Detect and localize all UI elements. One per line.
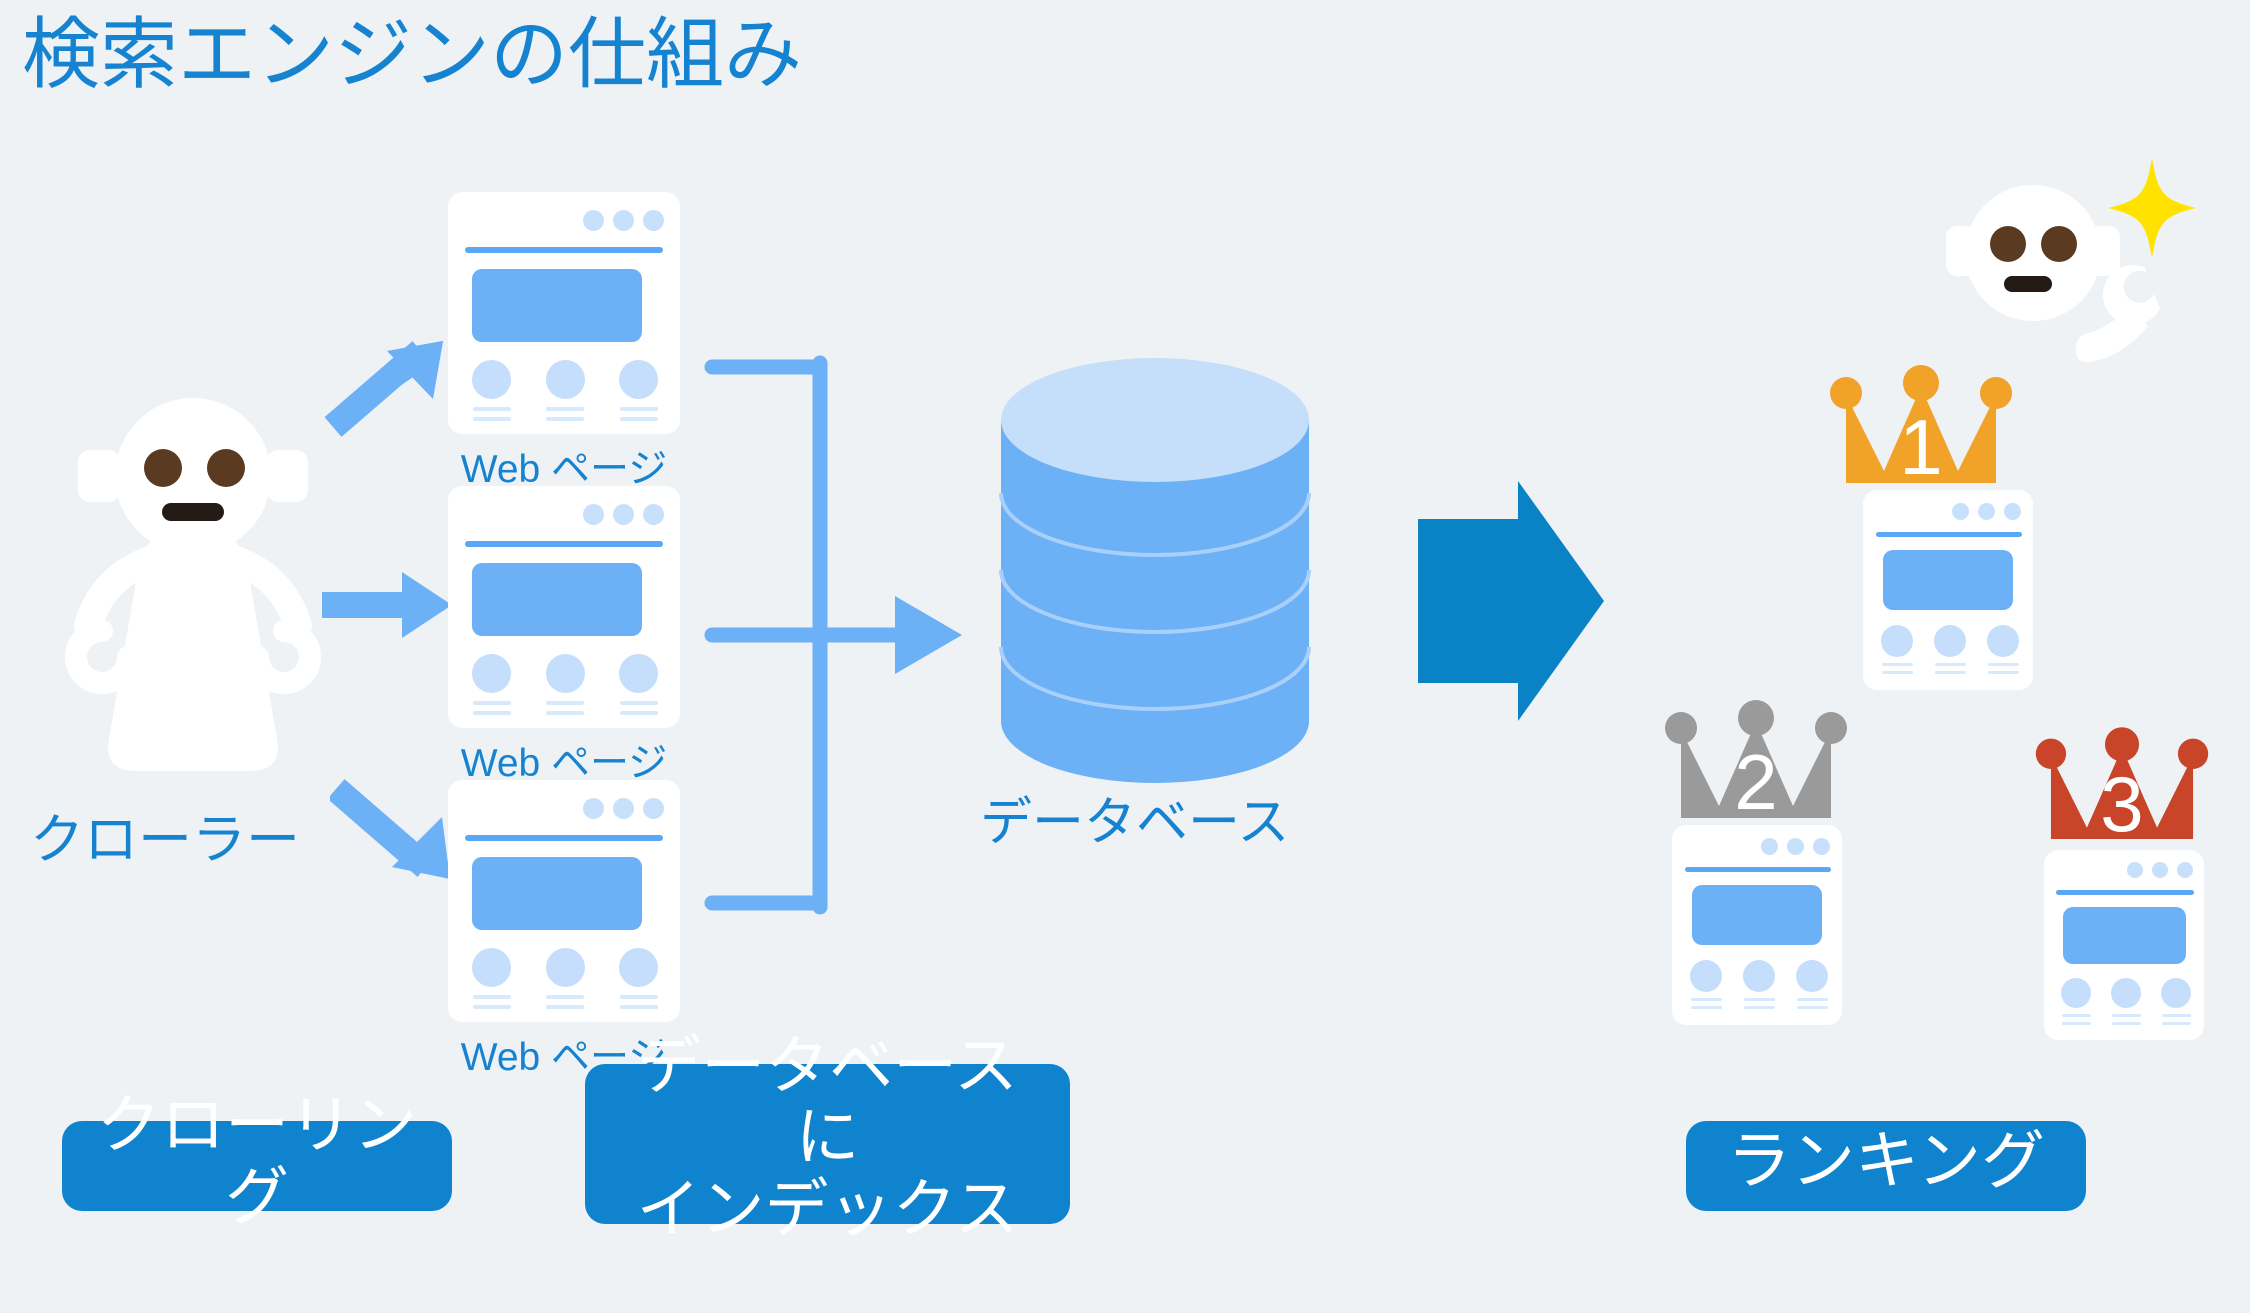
window-dot — [2004, 503, 2021, 520]
card-text-line — [2112, 1014, 2141, 1017]
card-text-line — [620, 701, 658, 705]
card-column — [472, 654, 511, 715]
window-dot — [583, 210, 604, 231]
card-avatar-circle — [1743, 960, 1775, 992]
card-avatar-circle — [1881, 625, 1913, 657]
database-cylinder-icon — [995, 358, 1315, 783]
crawler-label: クローラー — [30, 795, 300, 874]
card-text-line — [473, 701, 511, 705]
bracket-arrow-right-icon — [690, 355, 1000, 915]
card-column — [472, 948, 511, 1009]
card-column — [2061, 978, 2091, 1025]
card-text-line — [1744, 998, 1775, 1001]
card-text-line — [2112, 1022, 2141, 1025]
card-column — [546, 948, 585, 1009]
card-column — [619, 948, 658, 1009]
card-columns — [1690, 960, 1828, 1009]
card-text-line — [546, 701, 584, 705]
crown-silver-icon — [1661, 700, 1851, 824]
window-dot — [643, 798, 664, 819]
card-text-line — [2062, 1022, 2091, 1025]
card-avatar-circle — [619, 948, 658, 987]
card-hero-block — [1692, 885, 1822, 945]
sparkle-icon — [2108, 158, 2196, 258]
card-divider — [2056, 890, 2194, 895]
card-text-line — [546, 711, 584, 715]
window-dots — [583, 798, 664, 819]
window-dots — [1952, 503, 2021, 520]
card-text-line — [1797, 998, 1828, 1001]
card-text-line — [473, 407, 511, 411]
window-dot — [583, 798, 604, 819]
card-avatar-circle — [619, 654, 658, 693]
card-text-line — [1691, 1006, 1722, 1009]
diagram-canvas: 検索エンジンの仕組み クローラー — [0, 0, 2250, 1313]
crown-gold-icon — [1826, 365, 2016, 489]
card-hero-block — [1883, 550, 2013, 610]
card-column — [619, 654, 658, 715]
step-badge-ranking[interactable]: ランキング — [1686, 1121, 2086, 1211]
card-columns — [472, 654, 658, 715]
card-avatar-circle — [546, 360, 585, 399]
card-text-line — [620, 417, 658, 421]
block-arrow-right-icon — [1418, 477, 1608, 727]
web-page-card[interactable] — [448, 486, 680, 728]
database-label: データベース — [980, 780, 1289, 855]
page-title: 検索エンジンの仕組み — [22, 6, 802, 104]
crown-bronze-icon — [2032, 727, 2212, 845]
card-text-line — [2162, 1022, 2191, 1025]
card-divider — [1876, 532, 2022, 537]
card-text-line — [2062, 1014, 2091, 1017]
arrow-up-right-icon — [325, 335, 455, 440]
window-dot — [1761, 838, 1778, 855]
window-dots — [2127, 862, 2193, 878]
ranked-page-card[interactable] — [1672, 825, 1842, 1025]
card-text-line — [1988, 671, 2019, 674]
card-columns — [472, 948, 658, 1009]
card-text-line — [1797, 1006, 1828, 1009]
card-divider — [465, 835, 663, 841]
card-divider — [465, 541, 663, 547]
card-avatar-circle — [546, 948, 585, 987]
step-badge-crawling[interactable]: クローリング — [62, 1121, 452, 1211]
card-column — [1934, 625, 1966, 674]
card-avatar-circle — [2061, 978, 2091, 1008]
window-dots — [583, 504, 664, 525]
card-column — [1796, 960, 1828, 1009]
arrow-right-icon — [322, 570, 454, 640]
card-columns — [472, 360, 658, 421]
robot-crawler-icon — [58, 388, 328, 798]
card-column — [546, 654, 585, 715]
card-column — [619, 360, 658, 421]
card-text-line — [620, 407, 658, 411]
card-text-line — [1691, 998, 1722, 1001]
card-divider — [1685, 867, 1831, 872]
window-dot — [643, 210, 664, 231]
card-avatar-circle — [2161, 978, 2191, 1008]
card-hero-block — [2063, 907, 2186, 964]
card-avatar-circle — [472, 948, 511, 987]
ranked-page-card[interactable] — [2044, 850, 2204, 1040]
card-text-line — [620, 995, 658, 999]
card-text-line — [546, 407, 584, 411]
card-column — [1743, 960, 1775, 1009]
card-avatar-circle — [472, 360, 511, 399]
card-column — [1987, 625, 2019, 674]
card-column — [1690, 960, 1722, 1009]
card-text-line — [473, 1005, 511, 1009]
card-text-line — [546, 1005, 584, 1009]
card-text-line — [473, 417, 511, 421]
window-dot — [1978, 503, 1995, 520]
window-dot — [2177, 862, 2193, 878]
card-text-line — [1882, 671, 1913, 674]
step-badge-indexing[interactable]: データベースに インデックス — [585, 1064, 1070, 1224]
card-text-line — [620, 1005, 658, 1009]
card-text-line — [473, 711, 511, 715]
card-hero-block — [472, 857, 642, 930]
wrench-arm-icon — [2070, 258, 2180, 368]
window-dots — [583, 210, 664, 231]
card-text-line — [473, 995, 511, 999]
card-text-line — [1935, 663, 1966, 666]
card-avatar-circle — [2111, 978, 2141, 1008]
card-avatar-circle — [1987, 625, 2019, 657]
card-column — [2161, 978, 2191, 1025]
card-text-line — [1744, 1006, 1775, 1009]
card-text-line — [2162, 1014, 2191, 1017]
card-avatar-circle — [1934, 625, 1966, 657]
card-column — [2111, 978, 2141, 1025]
window-dot — [1787, 838, 1804, 855]
window-dot — [583, 504, 604, 525]
card-avatar-circle — [1796, 960, 1828, 992]
window-dot — [1952, 503, 1969, 520]
window-dot — [2127, 862, 2143, 878]
card-text-line — [1882, 663, 1913, 666]
window-dot — [613, 798, 634, 819]
card-hero-block — [472, 563, 642, 636]
window-dot — [1813, 838, 1830, 855]
card-column — [1881, 625, 1913, 674]
card-text-line — [546, 995, 584, 999]
window-dot — [2152, 862, 2168, 878]
window-dots — [1761, 838, 1830, 855]
arrow-down-right-icon — [330, 775, 460, 885]
card-column — [472, 360, 511, 421]
card-column — [546, 360, 585, 421]
card-avatar-circle — [472, 654, 511, 693]
card-hero-block — [472, 269, 642, 342]
card-divider — [465, 247, 663, 253]
card-avatar-circle — [1690, 960, 1722, 992]
window-dot — [613, 504, 634, 525]
card-columns — [2061, 978, 2191, 1025]
web-page-card[interactable] — [448, 780, 680, 1022]
ranked-page-card[interactable] — [1863, 490, 2033, 690]
card-text-line — [1988, 663, 2019, 666]
card-text-line — [546, 417, 584, 421]
window-dot — [643, 504, 664, 525]
window-dot — [613, 210, 634, 231]
card-text-line — [1935, 671, 1966, 674]
card-avatar-circle — [619, 360, 658, 399]
card-avatar-circle — [546, 654, 585, 693]
card-text-line — [620, 711, 658, 715]
web-page-card[interactable] — [448, 192, 680, 434]
card-columns — [1881, 625, 2019, 674]
